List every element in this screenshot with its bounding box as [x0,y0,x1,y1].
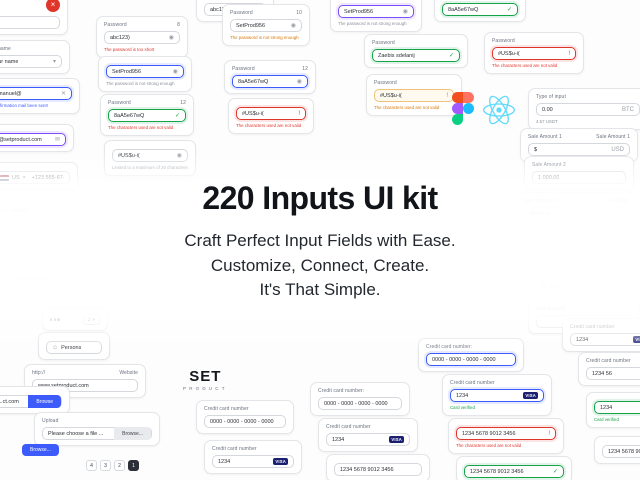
credit-card-value: 1234 [456,393,468,399]
page-3[interactable]: 3 [100,460,111,471]
credit-card-input[interactable]: 1234 5678 9012 3456 [602,445,640,458]
credit-card-label: Credit card number [450,380,544,386]
eye-icon[interactable]: ◉ [291,22,296,29]
your-name-label: Your name [0,46,62,52]
credit-card-10[interactable]: Credit card number 1234 56 [578,352,640,386]
password-label: Password [374,80,454,86]
setproduct-logo: SET PRODUCT [183,368,228,391]
char-counter: 12 [180,100,186,106]
your-name-value: Your name [0,59,18,65]
password-input[interactable]: #US$u-i( ! [492,47,576,60]
credit-card-2[interactable]: Credit card number: 0000 - 0000 - 0000 -… [310,382,410,416]
credit-card-input[interactable]: 0000 - 0000 - 0000 - 0000 [318,397,402,410]
credit-card-0[interactable]: Credit card number 0000 - 0000 - 0000 - … [196,400,294,434]
alert-icon: ! [568,51,570,57]
close-card[interactable]: × [0,0,68,35]
chevron-down-icon: ▾ [53,58,56,65]
subtitle-line-2: Customize, Connect, Create. [0,254,640,279]
page-title: 220 Inputs UI kit [0,180,640,217]
password-card-7[interactable]: Password Zaebis sdelanij ✓ [364,34,468,68]
upload-placeholder: Please choose a file ... [48,431,103,437]
crypto-conversion: 4.57 USDT [536,119,640,124]
password-card-8[interactable]: Password #US$u-i( ! The characters used … [484,32,584,74]
eye-icon[interactable]: ◉ [173,68,178,75]
credit-card-input[interactable]: 1234 VISA [212,455,294,468]
password-label: Password [108,100,131,106]
page-2[interactable]: 2 [114,460,125,471]
email-value: manuel@ [0,91,22,97]
password-hint: The password is not strong enough [230,35,302,40]
password-input[interactable]: #US$u-i( ! [236,107,306,120]
email-card[interactable]: manuel@ ✕ Confirmation mail been sent! [0,78,80,114]
password-card-10[interactable]: #US$u-i( ! The characters used are not v… [228,98,314,134]
upload2-input[interactable]: ...ct.com Browse [0,395,62,408]
website-prefix-label: http:// [32,370,45,376]
crypto-value: 0.00 [542,107,553,113]
browse-button[interactable]: Browse [28,395,61,408]
password-input[interactable]: SetProd956 ◉ [106,65,184,78]
credit-card-input[interactable]: 1234 ✓ [594,401,640,414]
close-icon[interactable]: ✕ [61,90,66,97]
crypto-label-right: Sale Amount 1 [596,134,630,140]
credit-card-label: Credit card number [204,406,286,412]
credit-card-value: 1234 [218,459,230,465]
page-4[interactable]: 4 [86,460,97,471]
subtitle-line-3: It's That Simple. [0,278,640,303]
credit-card-input[interactable]: 1234 5678 9012 3456 ✓ [464,465,564,478]
headline-block: 220 Inputs UI kit Craft Perfect Input Fi… [0,180,640,303]
email2-input[interactable]: m@setproduct.com ✉ [0,133,66,146]
credit-card-value: 1234 5678 9012 3456 [462,431,516,437]
credit-card-value: 1234 [600,405,612,411]
react-logo-icon [482,95,516,125]
credit-card-input[interactable]: 0000 - 0000 - 0000 - 0000 [204,415,286,428]
poster-canvas: × Your name Your name ▾ manuel@ ✕ Confir… [0,0,640,480]
alert-icon: ! [446,93,448,99]
password-hint: The characters used are not valid [374,105,454,110]
eye-icon[interactable]: ◉ [169,34,174,41]
password-value: SetProd956 [236,23,265,29]
password-hint: The characters used are not valid [492,63,576,68]
credit-card-hint: Card verified [450,405,544,410]
credit-card-input[interactable]: 1234 56 [586,367,640,380]
credit-card-7[interactable]: 1234 5678 9012 3456 ! The characters use… [448,418,564,454]
email-input[interactable]: manuel@ ✕ [0,87,72,100]
password-card-5[interactable]: SetProd956 ◉ The password is not strong … [98,56,192,92]
password-value: 8aA5e67wQ [238,79,268,85]
credit-card-input[interactable]: 1234 VISA [450,389,544,402]
password-input[interactable]: abc123) ◉ [104,31,180,44]
password-label: Password [372,40,460,46]
password-value: #US$u-i( [498,51,520,57]
eye-icon[interactable]: ◉ [403,8,408,15]
credit-card-value: 0000 - 0000 - 0000 - 0000 [324,401,388,407]
credit-card-input[interactable]: 1234 5678 9012 3456 ! [456,427,556,440]
check-icon: ✓ [553,468,558,475]
visa-icon: VISA [523,392,538,399]
check-icon: ✓ [507,6,512,13]
pagination[interactable]: 4 3 2 1 [86,460,139,471]
credit-card-hint: Card verified [594,417,640,422]
credit-card-label: Credit card number [586,358,640,364]
password-label: Password [338,0,414,2]
figma-logo-icon [452,92,474,125]
password-hint: The password is too short [104,47,180,52]
email2-value: m@setproduct.com [0,137,42,143]
crypto-label: Type of input [536,94,566,100]
credit-card-input[interactable]: 1234 5678 9012 3456 [334,463,422,476]
char-counter: 12 [302,66,308,72]
password-card-11[interactable]: Password #US$u-i( ! The characters used … [366,74,462,116]
password-value: 8aA5e67wQ [448,7,478,13]
credit-card-11[interactable]: 1234 ✓ Card verified [586,392,640,428]
password-card-9[interactable]: Password 12 8aA5e67wQ ✓ The characters u… [100,94,194,136]
page-subtitle: Craft Perfect Input Fields with Ease. Cu… [0,229,640,303]
credit-card-value: 1234 5678 9012 3456 [340,467,394,473]
password-label: Password [492,38,576,44]
mail-icon: ✉ [55,136,60,143]
credit-card-1[interactable]: Credit card number 1234 VISA [204,440,302,474]
password-input[interactable]: 8aA5e67wQ ✓ [442,3,518,16]
credit-card-value: 0000 - 0000 - 0000 - 0000 [210,419,274,425]
crypto-unit: BTC [622,107,634,113]
alert-icon: ! [298,111,300,117]
credit-card-input[interactable]: 1234 VISA [326,433,410,446]
alert-icon: ! [548,431,550,437]
password-label: Password [232,66,255,72]
password-card-6[interactable]: Password 12 8aA5e67wQ ◉ [224,60,316,94]
credit-card-value: 1234 5678 9012 3456 [470,469,524,475]
your-name-input[interactable]: Your name ▾ [0,55,62,68]
credit-card-8[interactable]: 1234 5678 9012 3456 ✓ [456,456,572,480]
close-icon[interactable]: × [46,0,60,12]
subtitle-line-1: Craft Perfect Input Fields with Ease. [0,229,640,254]
password-value: abc123) [110,35,130,41]
upload-browse-button[interactable]: Browse... [114,427,151,440]
visa-icon: VISA [389,436,404,443]
password-input[interactable]: Zaebis sdelanij ✓ [372,49,460,62]
upload2-value: ...ct.com [0,399,19,405]
credit-card-6[interactable]: Credit card number 1234 VISA Card verifi… [442,374,552,416]
password-card-1[interactable]: Password 8 abc123) ◉ The password is too… [96,16,188,58]
credit-card-value: 1234 5678 9012 3456 [608,449,640,455]
password-input[interactable]: 8aA5e67wQ ◉ [232,75,308,88]
crypto-card-0[interactable]: Type of input 0.00 BTC 4.57 USDT [528,88,640,130]
website-label: Website [119,370,138,376]
password-value: SetProd956 [344,9,373,15]
upload2-card[interactable]: ...ct.com Browse [0,386,70,414]
crypto-input[interactable]: 0.00 BTC [536,103,640,116]
password-card-4[interactable]: Password 8aA5e67wQ ✓ [434,0,526,22]
password-value: #US$u-i( [242,111,264,117]
your-name-card[interactable]: Your name Your name ▾ [0,40,70,74]
eye-icon[interactable]: ◉ [297,78,302,85]
credit-card-label: Credit card number [212,446,294,452]
password-card-3[interactable]: Password SetProd956 ◉ The password is no… [330,0,422,32]
password-label: Password [230,10,253,16]
password-hint: The password is not strong enough [106,81,184,86]
credit-card-label: Credit card number: [318,388,402,394]
email2-card[interactable]: m@setproduct.com ✉ [0,124,74,152]
password-value: 8aA5e67wQ [114,113,144,119]
page-1[interactable]: 1 [128,460,139,471]
credit-card-value: 1234 [332,437,344,443]
check-icon: ✓ [175,112,180,119]
password-hint: The characters used are not valid [236,123,306,128]
password-input[interactable]: 8aA5e67wQ ✓ [108,109,186,122]
brand-tagline: PRODUCT [183,386,228,391]
credit-card-label: Credit card number [326,424,410,430]
password-value: Zaebis sdelanij [378,53,415,59]
char-counter: 10 [296,10,302,16]
upload-label: Upload [42,418,152,424]
check-icon: ✓ [449,52,454,59]
password-label: Password [104,22,127,28]
password-input[interactable]: SetProd956 ◉ [230,19,302,32]
credit-card-hint: The characters used are not valid [456,443,556,448]
password-value: SetProd956 [112,69,141,75]
credit-card-value: 0000 - 0000 - 0000 - 0000 [432,357,496,363]
credit-card-4[interactable]: 1234 5678 9012 3456 [326,454,430,480]
credit-card-12[interactable]: 1234 5678 9012 3456 [594,436,640,464]
crypto-label: Sale Amount 1 [528,134,562,140]
credit-card-3[interactable]: Credit card number 1234 VISA [318,418,418,452]
credit-card-input[interactable]: 0000 - 0000 - 0000 - 0000 [426,353,516,366]
password-card-2[interactable]: Password 10 SetProd956 ◉ The password is… [222,4,310,46]
password-input[interactable]: SetProd956 ◉ [338,5,414,18]
password-input[interactable]: #US$u-i( ! [374,89,454,102]
password-value: #US$u-i( [380,93,402,99]
browse-standalone-button[interactable]: Browse... [22,438,59,456]
visa-icon: VISA [273,458,288,465]
credit-card-value: 1234 56 [592,371,612,377]
password-hint: The password is not strong enough [338,21,414,26]
char-counter: 8 [177,22,180,28]
password-hint: The characters used are not valid [108,125,186,130]
email-hint: Confirmation mail been sent! [0,103,72,108]
brand-name: SET [183,368,228,385]
